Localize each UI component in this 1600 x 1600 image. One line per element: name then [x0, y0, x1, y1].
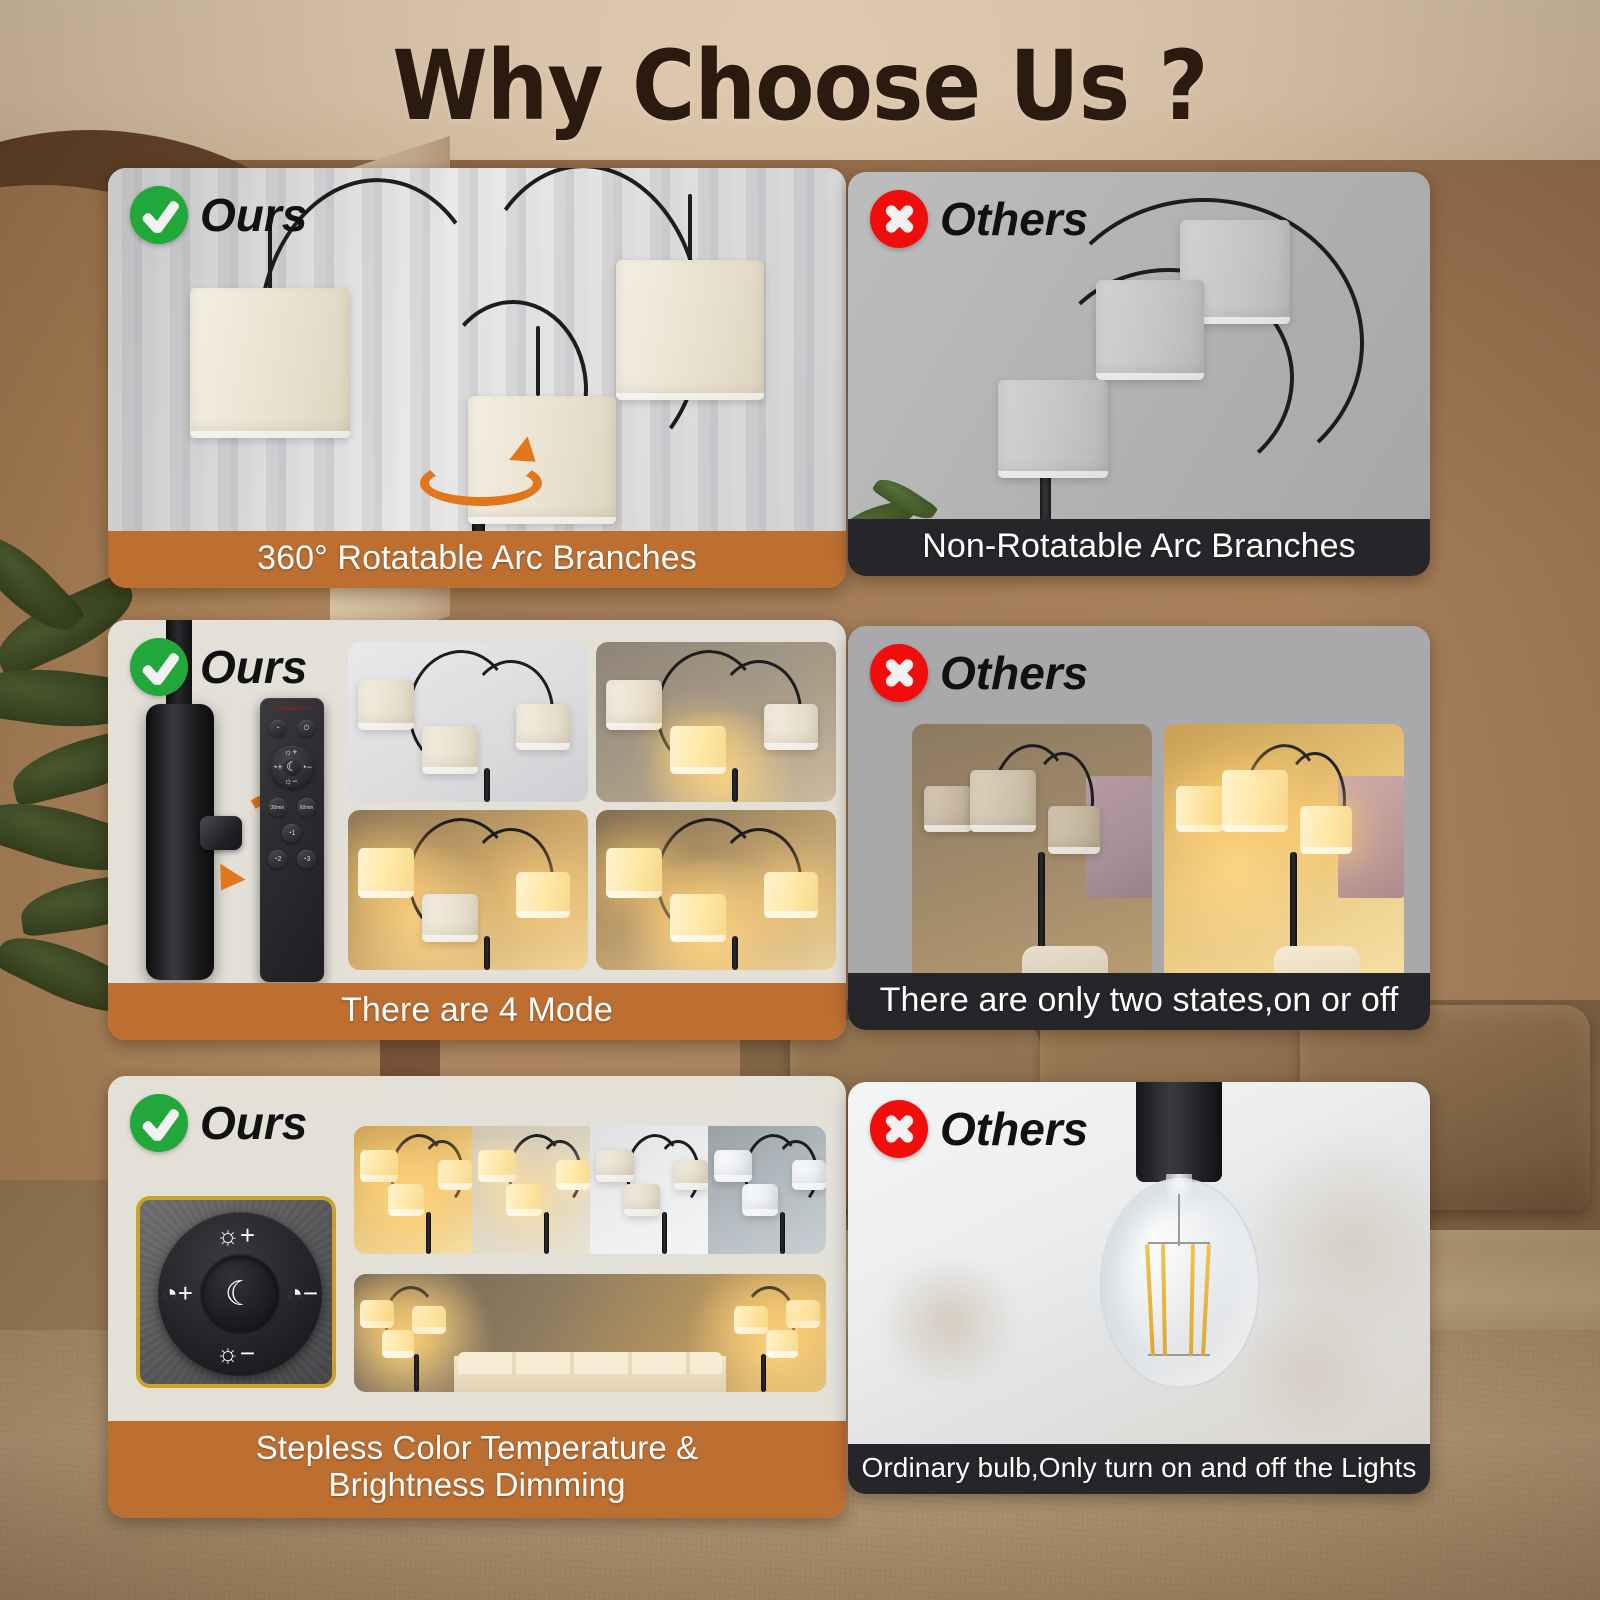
brightness-up-icon[interactable]: ☼+: [284, 748, 298, 757]
sofa-cushions: [458, 1352, 722, 1374]
x-circle-icon: [870, 1100, 928, 1158]
card-caption: Ordinary bulb,Only turn on and off the L…: [848, 1444, 1430, 1494]
preset-2-button[interactable]: ◔2: [268, 850, 287, 869]
badge-ours: Ours: [130, 638, 307, 696]
badge-ours: Ours: [130, 1094, 307, 1152]
others-thumbnail-on: [1164, 724, 1404, 973]
colortemp-down-icon[interactable]: ◔−: [287, 1280, 318, 1306]
badge-ours: Ours: [130, 186, 307, 244]
card-caption: There are 4 Mode: [108, 983, 846, 1040]
check-circle-icon: [130, 186, 188, 244]
lamp-shade-middle: [1096, 280, 1204, 380]
night-mode-icon[interactable]: ☾: [202, 1256, 278, 1332]
preset-1-button[interactable]: ◔1: [282, 824, 301, 843]
x-circle-icon: [870, 190, 928, 248]
timer-60min-button[interactable]: 60min: [297, 798, 316, 817]
colortemp-up-icon[interactable]: ◔+: [272, 763, 283, 772]
x-circle-icon: [870, 644, 928, 702]
caption-line-2: Brightness Dimming: [118, 1466, 836, 1504]
caption-line-1: Stepless Color Temperature &: [118, 1429, 836, 1467]
dial-control[interactable]: ☼+ ◔+ ◔− ☼− ☾: [136, 1196, 336, 1388]
check-circle-icon: [130, 1094, 188, 1152]
brightness-down-icon[interactable]: ☼−: [216, 1340, 255, 1366]
bulb-crossbar-top: [1148, 1242, 1210, 1244]
card-others-nonrotatable: Non-Rotatable Arc Branches Others: [848, 172, 1430, 576]
preset-3-button[interactable]: ◔3: [297, 850, 316, 869]
check-circle-icon: [130, 638, 188, 696]
mode-thumbnail-three-lit: [596, 810, 836, 970]
dial-ring[interactable]: ☼+ ◔+ ◔− ☼− ☾: [158, 1212, 322, 1376]
mode-thumbnail-off: [348, 642, 588, 802]
lamp-rod-center: [536, 326, 540, 396]
comparison-grid: 360° Rotatable Arc Branches Ours Non-Rot…: [0, 0, 1600, 1600]
card-ours-four-modes: ◔ ⏻ ☼+ ◔+ ◔− ☼− ☾ 30min 60min ◔1 ◔2 ◔3: [108, 620, 846, 1040]
card-others-ordinary-bulb: Ordinary bulb,Only turn on and off the L…: [848, 1082, 1430, 1494]
remote-dpad[interactable]: ☼+ ◔+ ◔− ☼− ☾: [271, 746, 313, 788]
badge-label: Others: [940, 1106, 1088, 1152]
card-caption: Stepless Color Temperature & Brightness …: [108, 1421, 846, 1518]
badge-others: Others: [870, 190, 1088, 248]
lamp-rod-right: [688, 194, 692, 262]
others-thumbnail-off: [912, 724, 1152, 973]
badge-others: Others: [870, 1100, 1088, 1158]
sofa-corner: [1274, 946, 1360, 973]
color-temperature-strip: [354, 1126, 826, 1254]
badge-label: Ours: [200, 192, 307, 238]
lamp-shade-right: [616, 260, 764, 400]
page-title: Why Choose Us ?: [80, 38, 1520, 134]
mode-thumbnail-two-lit: [348, 810, 588, 970]
card-caption: There are only two states,on or off: [848, 973, 1430, 1030]
brightness-up-icon[interactable]: ☼+: [216, 1222, 255, 1248]
power-icon[interactable]: ⏻: [298, 720, 315, 737]
badge-label: Others: [940, 196, 1088, 242]
strip-cell: [472, 1126, 590, 1254]
night-mode-icon[interactable]: ☾: [283, 758, 301, 776]
card-others-two-states: There are only two states,on or off Othe…: [848, 626, 1430, 1030]
card-caption: 360° Rotatable Arc Branches: [108, 531, 846, 588]
card-ours-rotatable: 360° Rotatable Arc Branches Ours: [108, 168, 846, 588]
bulb-stem: [1178, 1194, 1180, 1246]
lamp-shade-left: [190, 288, 350, 438]
colortemp-up-icon[interactable]: ◔+: [162, 1280, 193, 1306]
colortemp-down-icon[interactable]: ◔−: [301, 763, 312, 772]
bulb-glass: [1100, 1178, 1260, 1388]
card-ours-stepless-dimming: ☼+ ◔+ ◔− ☼− ☾: [108, 1076, 846, 1518]
mode-icon[interactable]: ◔: [269, 720, 286, 737]
badge-label: Ours: [200, 644, 307, 690]
strip-cell: [354, 1126, 472, 1254]
brightness-down-icon[interactable]: ☼−: [284, 777, 298, 786]
strip-cell: [708, 1126, 826, 1254]
card-caption: Non-Rotatable Arc Branches: [848, 519, 1430, 576]
lamp-shade-bottom: [998, 380, 1108, 478]
badge-label: Others: [940, 650, 1088, 696]
sofa-corner: [1022, 946, 1108, 973]
remote-control[interactable]: ◔ ⏻ ☼+ ◔+ ◔− ☼− ☾ 30min 60min ◔1 ◔2 ◔3: [260, 698, 324, 982]
plant-accent: [848, 488, 968, 519]
badge-label: Ours: [200, 1100, 307, 1146]
strip-cell: [590, 1126, 708, 1254]
badge-others: Others: [870, 644, 1088, 702]
panorama-living-room: [354, 1274, 826, 1392]
bulb-socket: [1136, 1082, 1222, 1182]
mode-thumbnail-one-lit: [596, 642, 836, 802]
timer-30min-button[interactable]: 30min: [268, 798, 287, 817]
